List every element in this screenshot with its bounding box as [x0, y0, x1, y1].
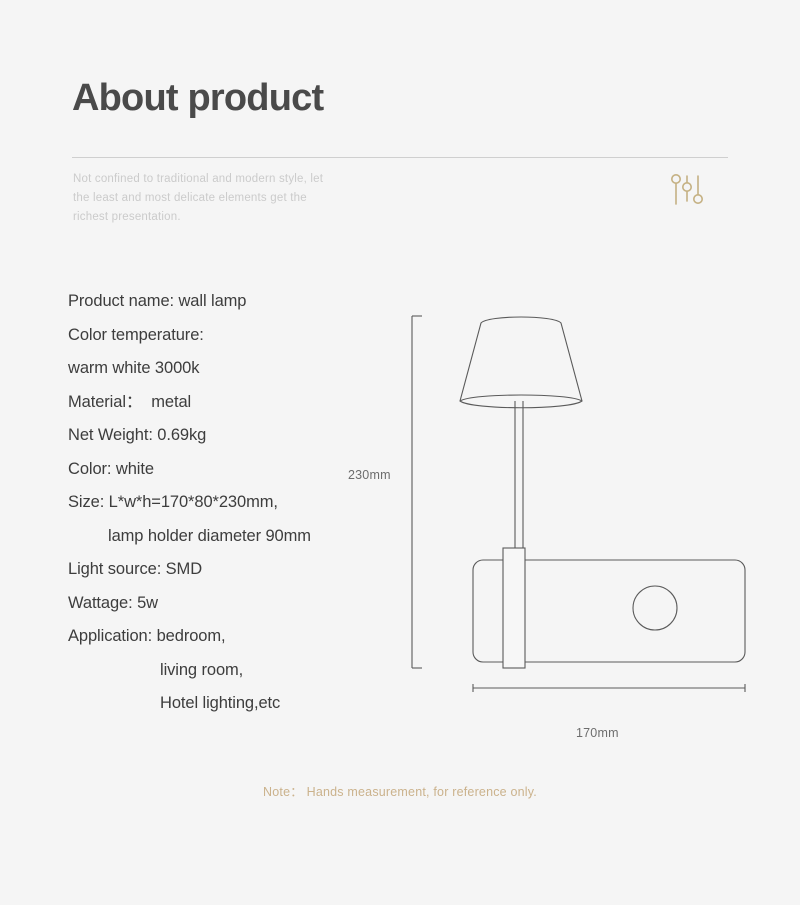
height-dimension-label: 230mm: [348, 468, 391, 482]
lamp-stem: [515, 401, 523, 548]
page-title: About product: [72, 78, 323, 120]
measurement-note: Note： Hands measurement, for reference o…: [0, 781, 800, 800]
sliders-icon: [668, 171, 708, 209]
header-divider: [72, 157, 728, 158]
product-dimension-diagram: [330, 300, 780, 760]
width-dimension-label: 170mm: [576, 726, 619, 740]
about-product-page: About product Not confined to traditiona…: [0, 0, 800, 905]
lamp-switch-knob: [633, 586, 677, 630]
width-dimension-line: [473, 684, 745, 692]
height-dimension-bracket: [412, 316, 422, 668]
lampshade: [460, 317, 582, 408]
header-subtitle: Not confined to traditional and modern s…: [73, 170, 343, 227]
lamp-connector: [503, 548, 525, 668]
